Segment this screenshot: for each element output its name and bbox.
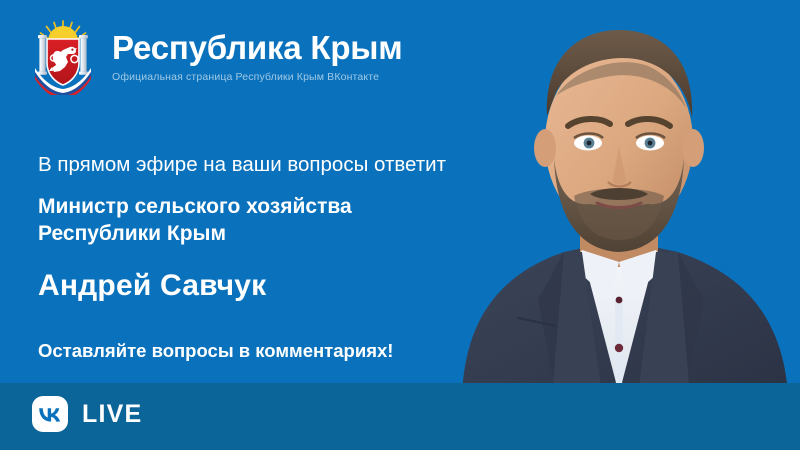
org-title: Республика Крым	[112, 31, 403, 66]
vk-logo-icon	[32, 396, 68, 432]
org-subtitle: Официальная страница Республики Крым ВКо…	[112, 71, 403, 83]
announcement-copy: В прямом эфире на ваши вопросы ответит М…	[38, 152, 508, 303]
live-label: LIVE	[82, 400, 142, 429]
vk-live-logo: LIVE	[32, 396, 142, 432]
role-line-1: Министр сельского хозяйства	[38, 194, 508, 221]
crimea-coat-of-arms-icon	[32, 19, 94, 95]
call-to-action: Оставляйте вопросы в комментариях!	[38, 340, 393, 362]
lead-line: В прямом эфире на ваши вопросы ответит	[38, 152, 508, 178]
page-header: Республика Крым Официальная страница Рес…	[0, 0, 520, 110]
role-lines: Министр сельского хозяйства Республики К…	[38, 194, 508, 248]
role-line-2: Республики Крым	[38, 221, 508, 248]
person-name: Андрей Савчук	[38, 269, 508, 303]
live-announcement-banner: Республика Крым Официальная страница Рес…	[0, 0, 800, 450]
